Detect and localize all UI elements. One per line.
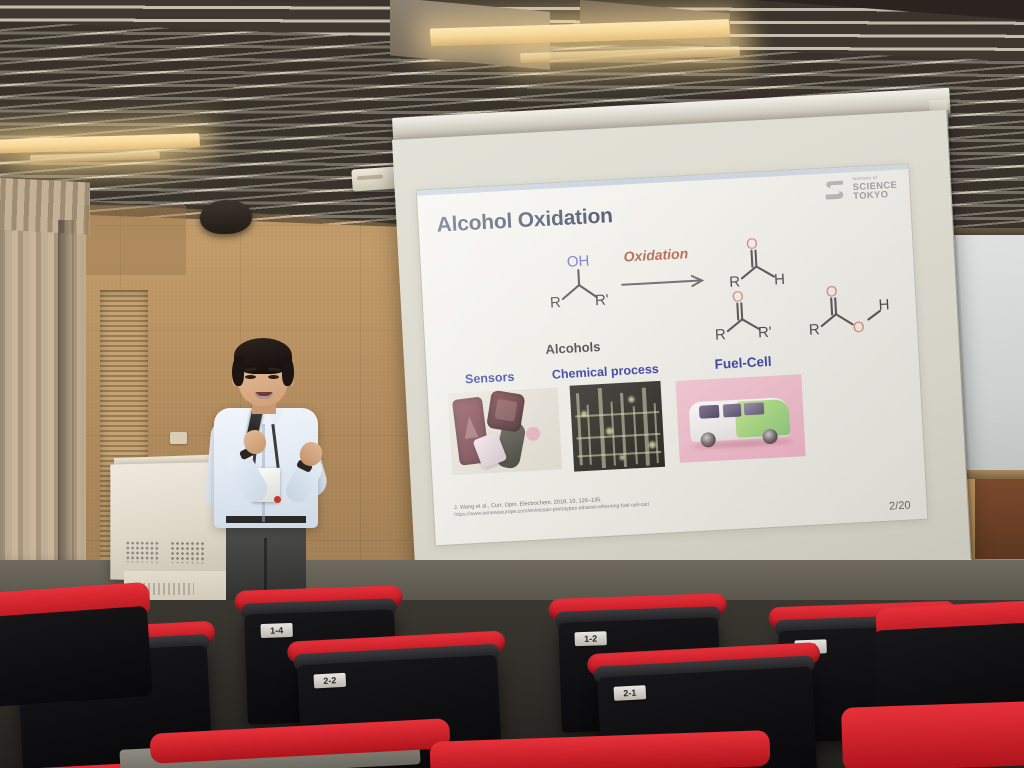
van-window-graphic [744,402,765,415]
curtain-valance [0,177,90,234]
atom-r-prime: R' [595,292,610,310]
section-heading-fuel-cell: Fuel-Cell [714,354,772,372]
seat-number-plate: 2-2 [313,673,346,689]
logo-wordmark: Institute of SCIENCE TOKYO [852,175,898,201]
smartwatch-graphic [486,390,525,433]
lecture-hall-photo: Institute of SCIENCE TOKYO Alcohol Oxida… [0,0,1024,768]
presentation-slide: Institute of SCIENCE TOKYO Alcohol Oxida… [417,164,927,545]
van-window-graphic [723,404,742,418]
ceiling-light-fixture [351,166,398,191]
seat-number-plate: 2-1 [614,685,647,701]
sensor-dot-graphic [526,426,541,441]
sensors-photo [448,387,562,475]
curtain-shadow-fold [58,220,74,570]
section-heading-chemical-process: Chemical process [552,362,660,382]
presenter-eye [245,375,256,379]
right-cabinet-dark-panel [975,479,1024,559]
presenter-belt [226,516,306,523]
slide-page-number: 2/20 [889,500,911,513]
presenter-hair-side [282,356,294,386]
presenter [196,338,346,603]
science-tokyo-logo: Institute of SCIENCE TOKYO [821,174,898,204]
room: Institute of SCIENCE TOKYO Alcohol Oxida… [0,0,1024,768]
s-mark-logo-icon [821,176,848,203]
atom-r: R [550,294,562,312]
reaction-scheme: OH R R' O R H O R R' O R O H [420,222,918,366]
reaction-scheme-svg: OH R R' O R H O R R' O R O H [420,222,918,366]
wall-outlet [170,432,187,444]
section-heading-sensors: Sensors [465,370,515,387]
seat-cushion-partial[interactable] [841,700,1024,768]
presenter-badge-marker [274,496,281,503]
atom-oh: OH [566,253,589,271]
atom-o-acid-single: O [852,319,865,337]
alcohols-label: Alcohols [545,339,601,357]
atom-r-prime-ketone: R' [758,324,773,342]
atom-r-ketone: R [715,326,727,344]
presenter-hair-side [232,356,244,386]
seat-back-partial[interactable] [0,606,153,708]
atom-o-aldehyde: O [746,235,759,253]
atom-o-ketone: O [732,288,745,306]
atom-h-aldehyde: H [774,271,786,289]
plant-pipework-graphic [570,381,666,472]
seat-number-plate: 1-2 [574,631,606,646]
atom-h-acid: H [878,296,890,314]
atom-r-acid: R [808,321,820,339]
wall-panel-door [86,205,186,275]
citation-block: J. Wang et al., Curr. Opin. Electrochem.… [454,494,650,520]
atom-o-acid-double: O [825,283,838,301]
seat-number-plate: 1-4 [260,623,292,638]
van-window-graphic [699,405,720,419]
presenter-eye [268,375,279,379]
lectern-speaker-grille [125,541,158,563]
logo-tokyo-line: TOKYO [853,189,898,201]
projection-screen: Institute of SCIENCE TOKYO Alcohol Oxida… [392,110,972,591]
fuel-cell-van-photo [675,374,805,463]
slide-title: Alcohol Oxidation [436,204,613,237]
chemical-plant-photo [570,381,666,472]
